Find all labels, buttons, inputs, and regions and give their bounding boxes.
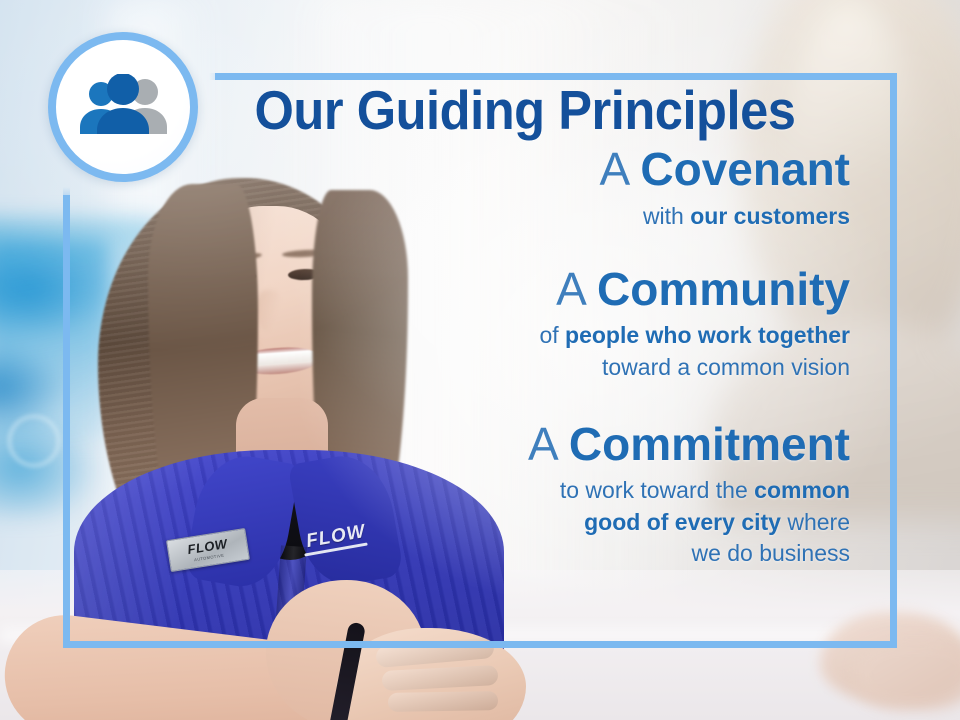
banner-graphic: FLOW AUTOMOTIVE FLOW: [0, 0, 960, 720]
principle-community-title: A Community: [200, 264, 850, 316]
principle-keyword: Community: [597, 263, 850, 315]
subtext-plain: to work toward the: [560, 477, 754, 503]
subtext-plain: toward a common vision: [602, 354, 850, 380]
principle-covenant-subtext: with our customers: [200, 201, 850, 232]
principle-covenant: A Covenant with our customers: [200, 144, 850, 232]
spacer: [200, 232, 850, 258]
principle-article: A: [528, 418, 556, 470]
subtext-plain: we do business: [691, 540, 850, 566]
principle-community: A Community of people who work together …: [200, 264, 850, 383]
principle-community-subtext: of people who work together toward a com…: [200, 320, 850, 383]
page-title: Our Guiding Principles: [226, 82, 824, 138]
employee-finger: [388, 691, 498, 712]
principle-covenant-title: A Covenant: [200, 144, 850, 196]
subtext-plain: where: [781, 509, 850, 535]
principle-article: A: [599, 143, 627, 195]
spacer: [200, 383, 850, 413]
subtext-bold: good of every city: [584, 509, 781, 535]
people-group-badge: [48, 32, 198, 182]
subtext-plain: with: [643, 203, 690, 229]
principle-commitment: A Commitment to work toward the common g…: [200, 419, 850, 569]
principle-commitment-subtext: to work toward the common good of every …: [200, 475, 850, 569]
people-group-icon: [75, 74, 171, 140]
copy-block: Our Guiding Principles A Covenant with o…: [200, 82, 880, 569]
principle-commitment-title: A Commitment: [200, 419, 850, 471]
subtext-bold: people who work together: [565, 322, 850, 348]
subtext-bold: our customers: [690, 203, 850, 229]
subtext-plain: of: [539, 322, 565, 348]
subtext-bold: common: [754, 477, 850, 503]
photo-blurred-emblem: [8, 415, 60, 467]
customer-hand-secondary: [856, 640, 960, 710]
principle-article: A: [556, 263, 584, 315]
principle-keyword: Covenant: [640, 143, 850, 195]
principle-keyword: Commitment: [569, 418, 850, 470]
